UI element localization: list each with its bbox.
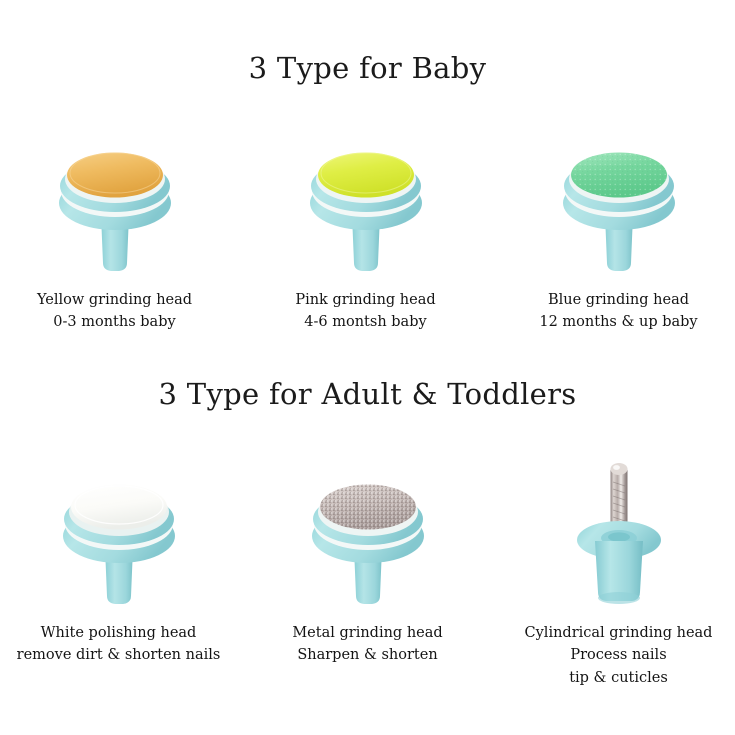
product-image-cylindrical-grinding-head	[554, 448, 684, 608]
product-image-white-polishing-head	[54, 448, 184, 608]
product-detail-blue: 12 months & up baby	[539, 311, 697, 333]
section-title-adult: 3 Type for Adult & Toddlers	[0, 380, 735, 409]
product-detail2-cylinder: tip & cuticles	[525, 667, 713, 689]
product-detail-white: remove dirt & shorten nails	[17, 644, 221, 666]
product-name-cylinder: Cylindrical grinding head	[525, 622, 713, 644]
product-row-baby: Yellow grinding head 0-3 months baby	[0, 120, 735, 340]
product-name-metal: Metal grinding head	[292, 622, 442, 644]
product-image-pink-grinding-head	[301, 120, 431, 275]
product-name-yellow: Yellow grinding head	[37, 289, 192, 311]
product-card-white[interactable]: White polishing head remove dirt & short…	[6, 448, 231, 667]
product-caption-pink: Pink grinding head 4-6 montsh baby	[295, 289, 435, 334]
product-card-yellow[interactable]: Yellow grinding head 0-3 months baby	[2, 120, 227, 334]
product-row-adult: White polishing head remove dirt & short…	[0, 448, 735, 698]
product-detail-metal: Sharpen & shorten	[292, 644, 442, 666]
product-name-pink: Pink grinding head	[295, 289, 435, 311]
product-card-metal[interactable]: Metal grinding head Sharpen & shorten	[255, 448, 480, 667]
product-name-blue: Blue grinding head	[539, 289, 697, 311]
infographic-page: 3 Type for Baby	[0, 0, 735, 735]
product-caption-metal: Metal grinding head Sharpen & shorten	[292, 622, 442, 667]
product-caption-yellow: Yellow grinding head 0-3 months baby	[37, 289, 192, 334]
product-image-yellow-grinding-head	[50, 120, 180, 275]
product-card-pink[interactable]: Pink grinding head 4-6 montsh baby	[253, 120, 478, 334]
product-name-white: White polishing head	[17, 622, 221, 644]
product-card-cylinder[interactable]: Cylindrical grinding head Process nails …	[506, 448, 731, 689]
product-detail-cylinder: Process nails	[525, 644, 713, 666]
section-title-baby: 3 Type for Baby	[0, 54, 735, 83]
product-caption-cylinder: Cylindrical grinding head Process nails …	[525, 622, 713, 689]
product-caption-white: White polishing head remove dirt & short…	[17, 622, 221, 667]
product-detail-pink: 4-6 montsh baby	[295, 311, 435, 333]
product-image-blue-grinding-head	[554, 120, 684, 275]
product-detail-yellow: 0-3 months baby	[37, 311, 192, 333]
product-image-metal-grinding-head	[303, 448, 433, 608]
product-caption-blue: Blue grinding head 12 months & up baby	[539, 289, 697, 334]
product-card-blue[interactable]: Blue grinding head 12 months & up baby	[506, 120, 731, 334]
